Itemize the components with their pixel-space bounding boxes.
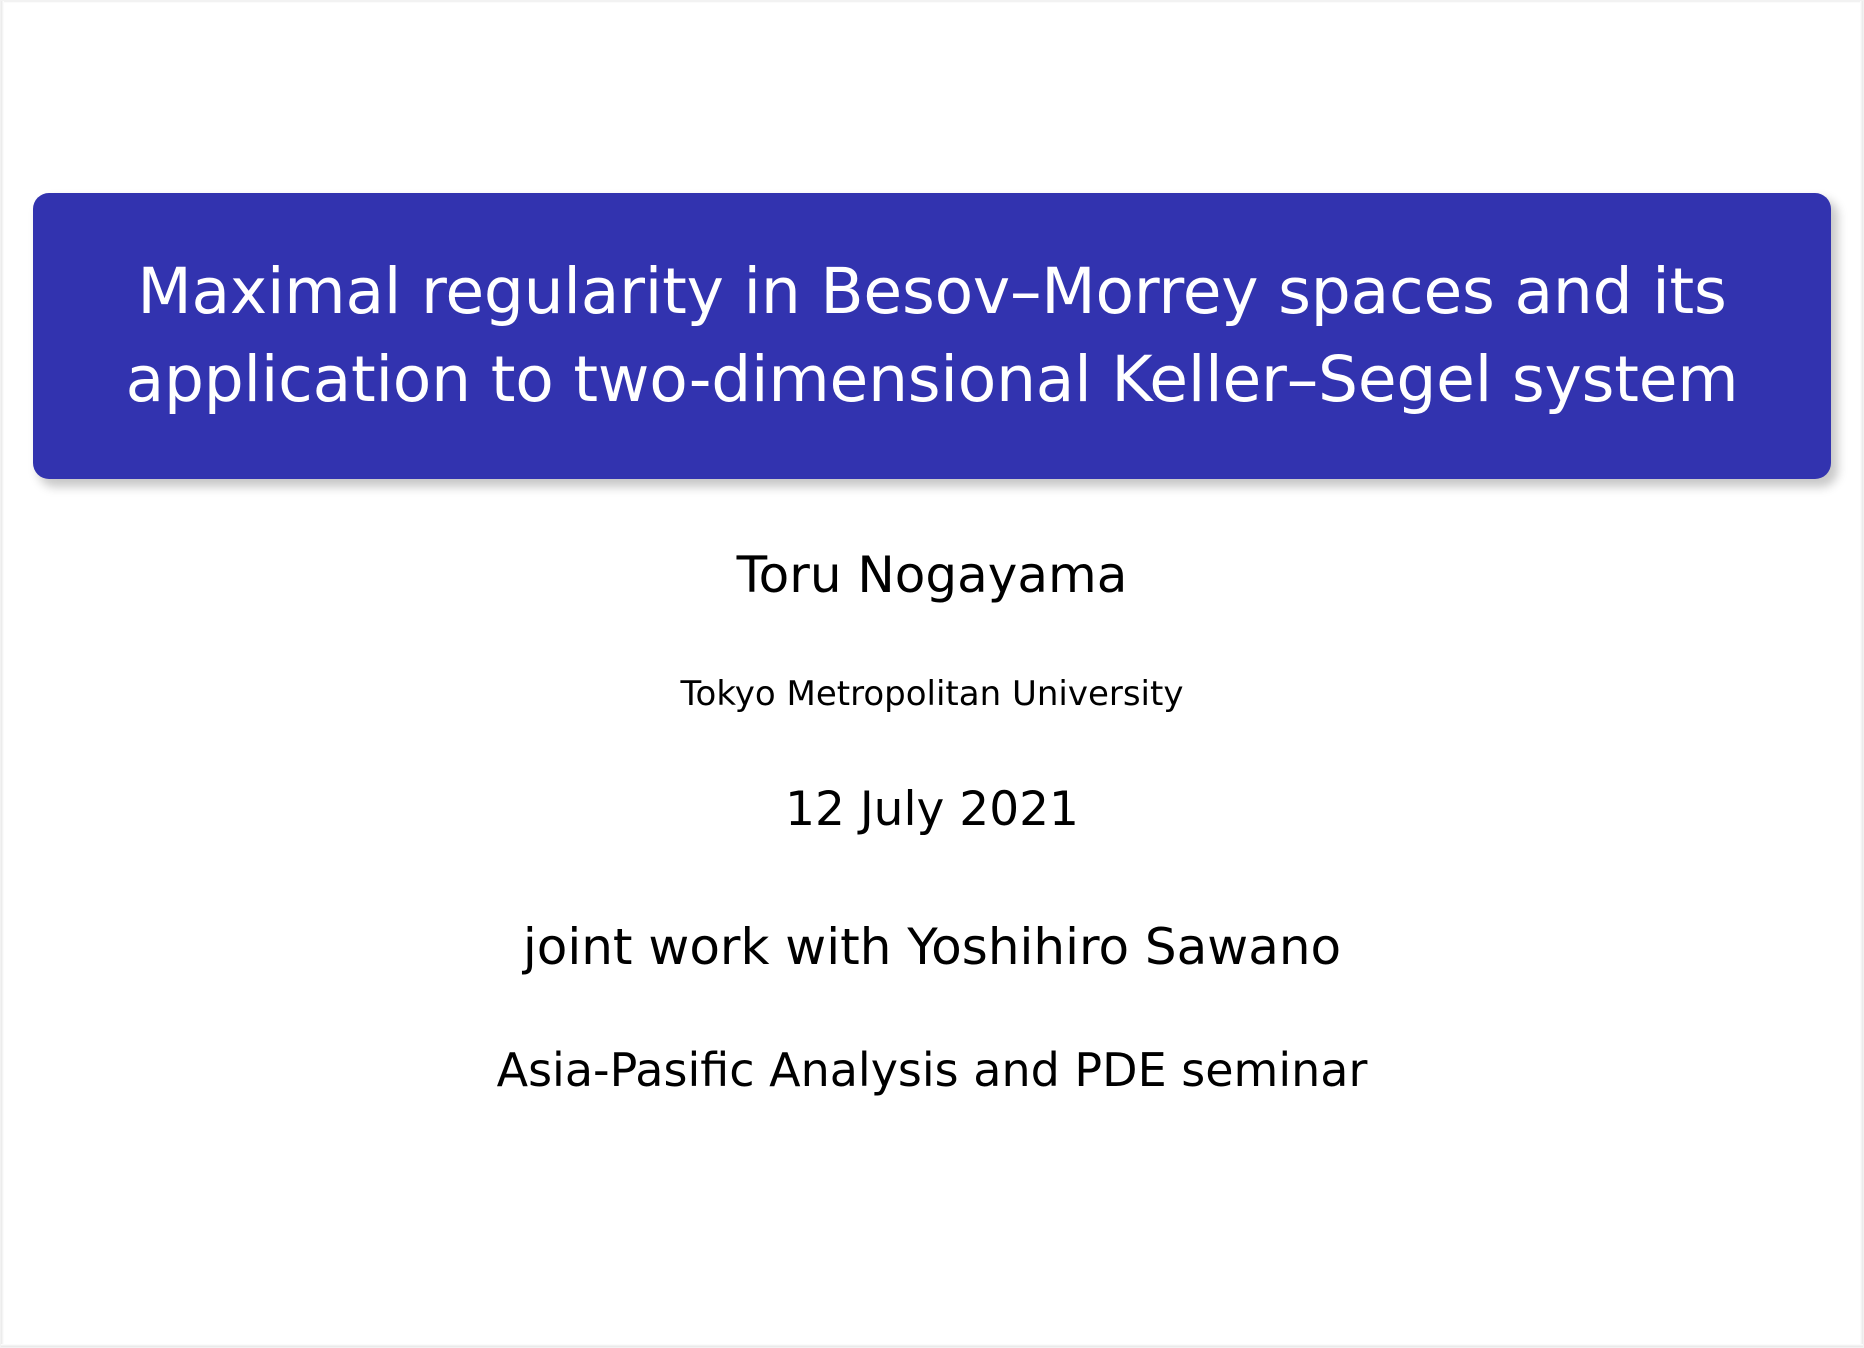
title-line-2: application to two-dimensional Keller–Se… <box>126 336 1739 424</box>
presentation-date: 12 July 2021 <box>1 781 1863 839</box>
title-banner: Maximal regularity in Besov–Morrey space… <box>33 193 1831 479</box>
title-line-1: Maximal regularity in Besov–Morrey space… <box>137 248 1726 336</box>
page-edge-bottom <box>1 1344 1863 1347</box>
slide-canvas: Maximal regularity in Besov–Morrey space… <box>0 0 1864 1348</box>
title-slide-body: Toru Nogayama Tokyo Metropolitan Univers… <box>1 479 1863 1099</box>
institute-name: Tokyo Metropolitan University <box>1 673 1863 715</box>
event-name: Asia-Pasific Analysis and PDE seminar <box>1 1041 1863 1099</box>
joint-work-credit: joint work with Yoshihiro Sawano <box>1 917 1863 977</box>
page-edge-top <box>1 1 1863 3</box>
author-name: Toru Nogayama <box>1 545 1863 605</box>
